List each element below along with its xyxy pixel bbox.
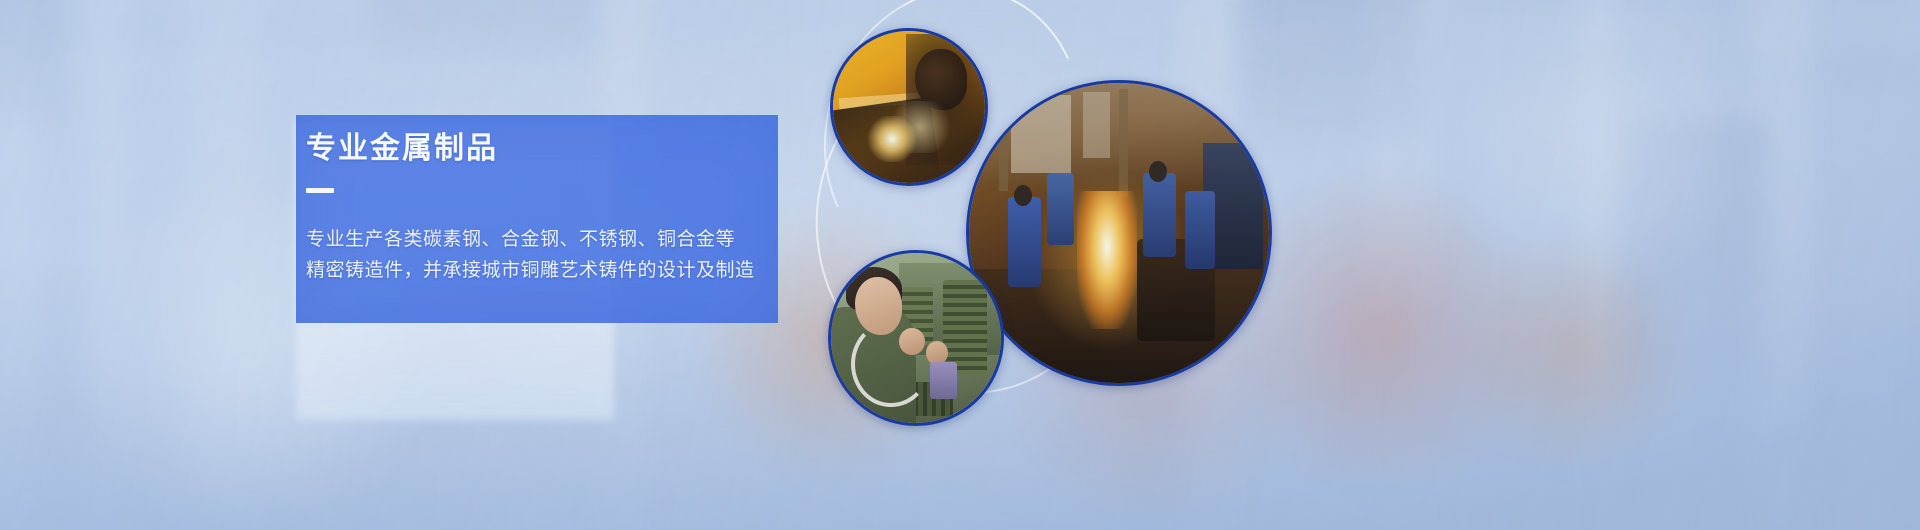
photo-collage: [800, 0, 1500, 530]
title-divider: [306, 188, 334, 193]
foundry-photo-content: [969, 83, 1269, 383]
panel-description: 专业生产各类碳素钢、合金钢、不锈钢、铜合金等 精密铸造件，并承接城市铜雕艺术铸件…: [306, 224, 786, 286]
foundry-photo: [966, 80, 1272, 386]
description-line-1: 专业生产各类碳素钢、合金钢、不锈钢、铜合金等: [306, 224, 786, 255]
hero-banner: 专业金属制品 专业生产各类碳素钢、合金钢、不锈钢、铜合金等 精密铸造件，并承接城…: [0, 0, 1920, 530]
panel-title: 专业金属制品: [306, 134, 498, 164]
assembly-photo: [828, 250, 1004, 426]
welding-photo: [830, 28, 988, 186]
description-line-2: 精密铸造件，并承接城市铜雕艺术铸件的设计及制造: [306, 255, 786, 286]
assembly-photo-content: [831, 253, 1001, 423]
welding-photo-content: [833, 31, 985, 183]
